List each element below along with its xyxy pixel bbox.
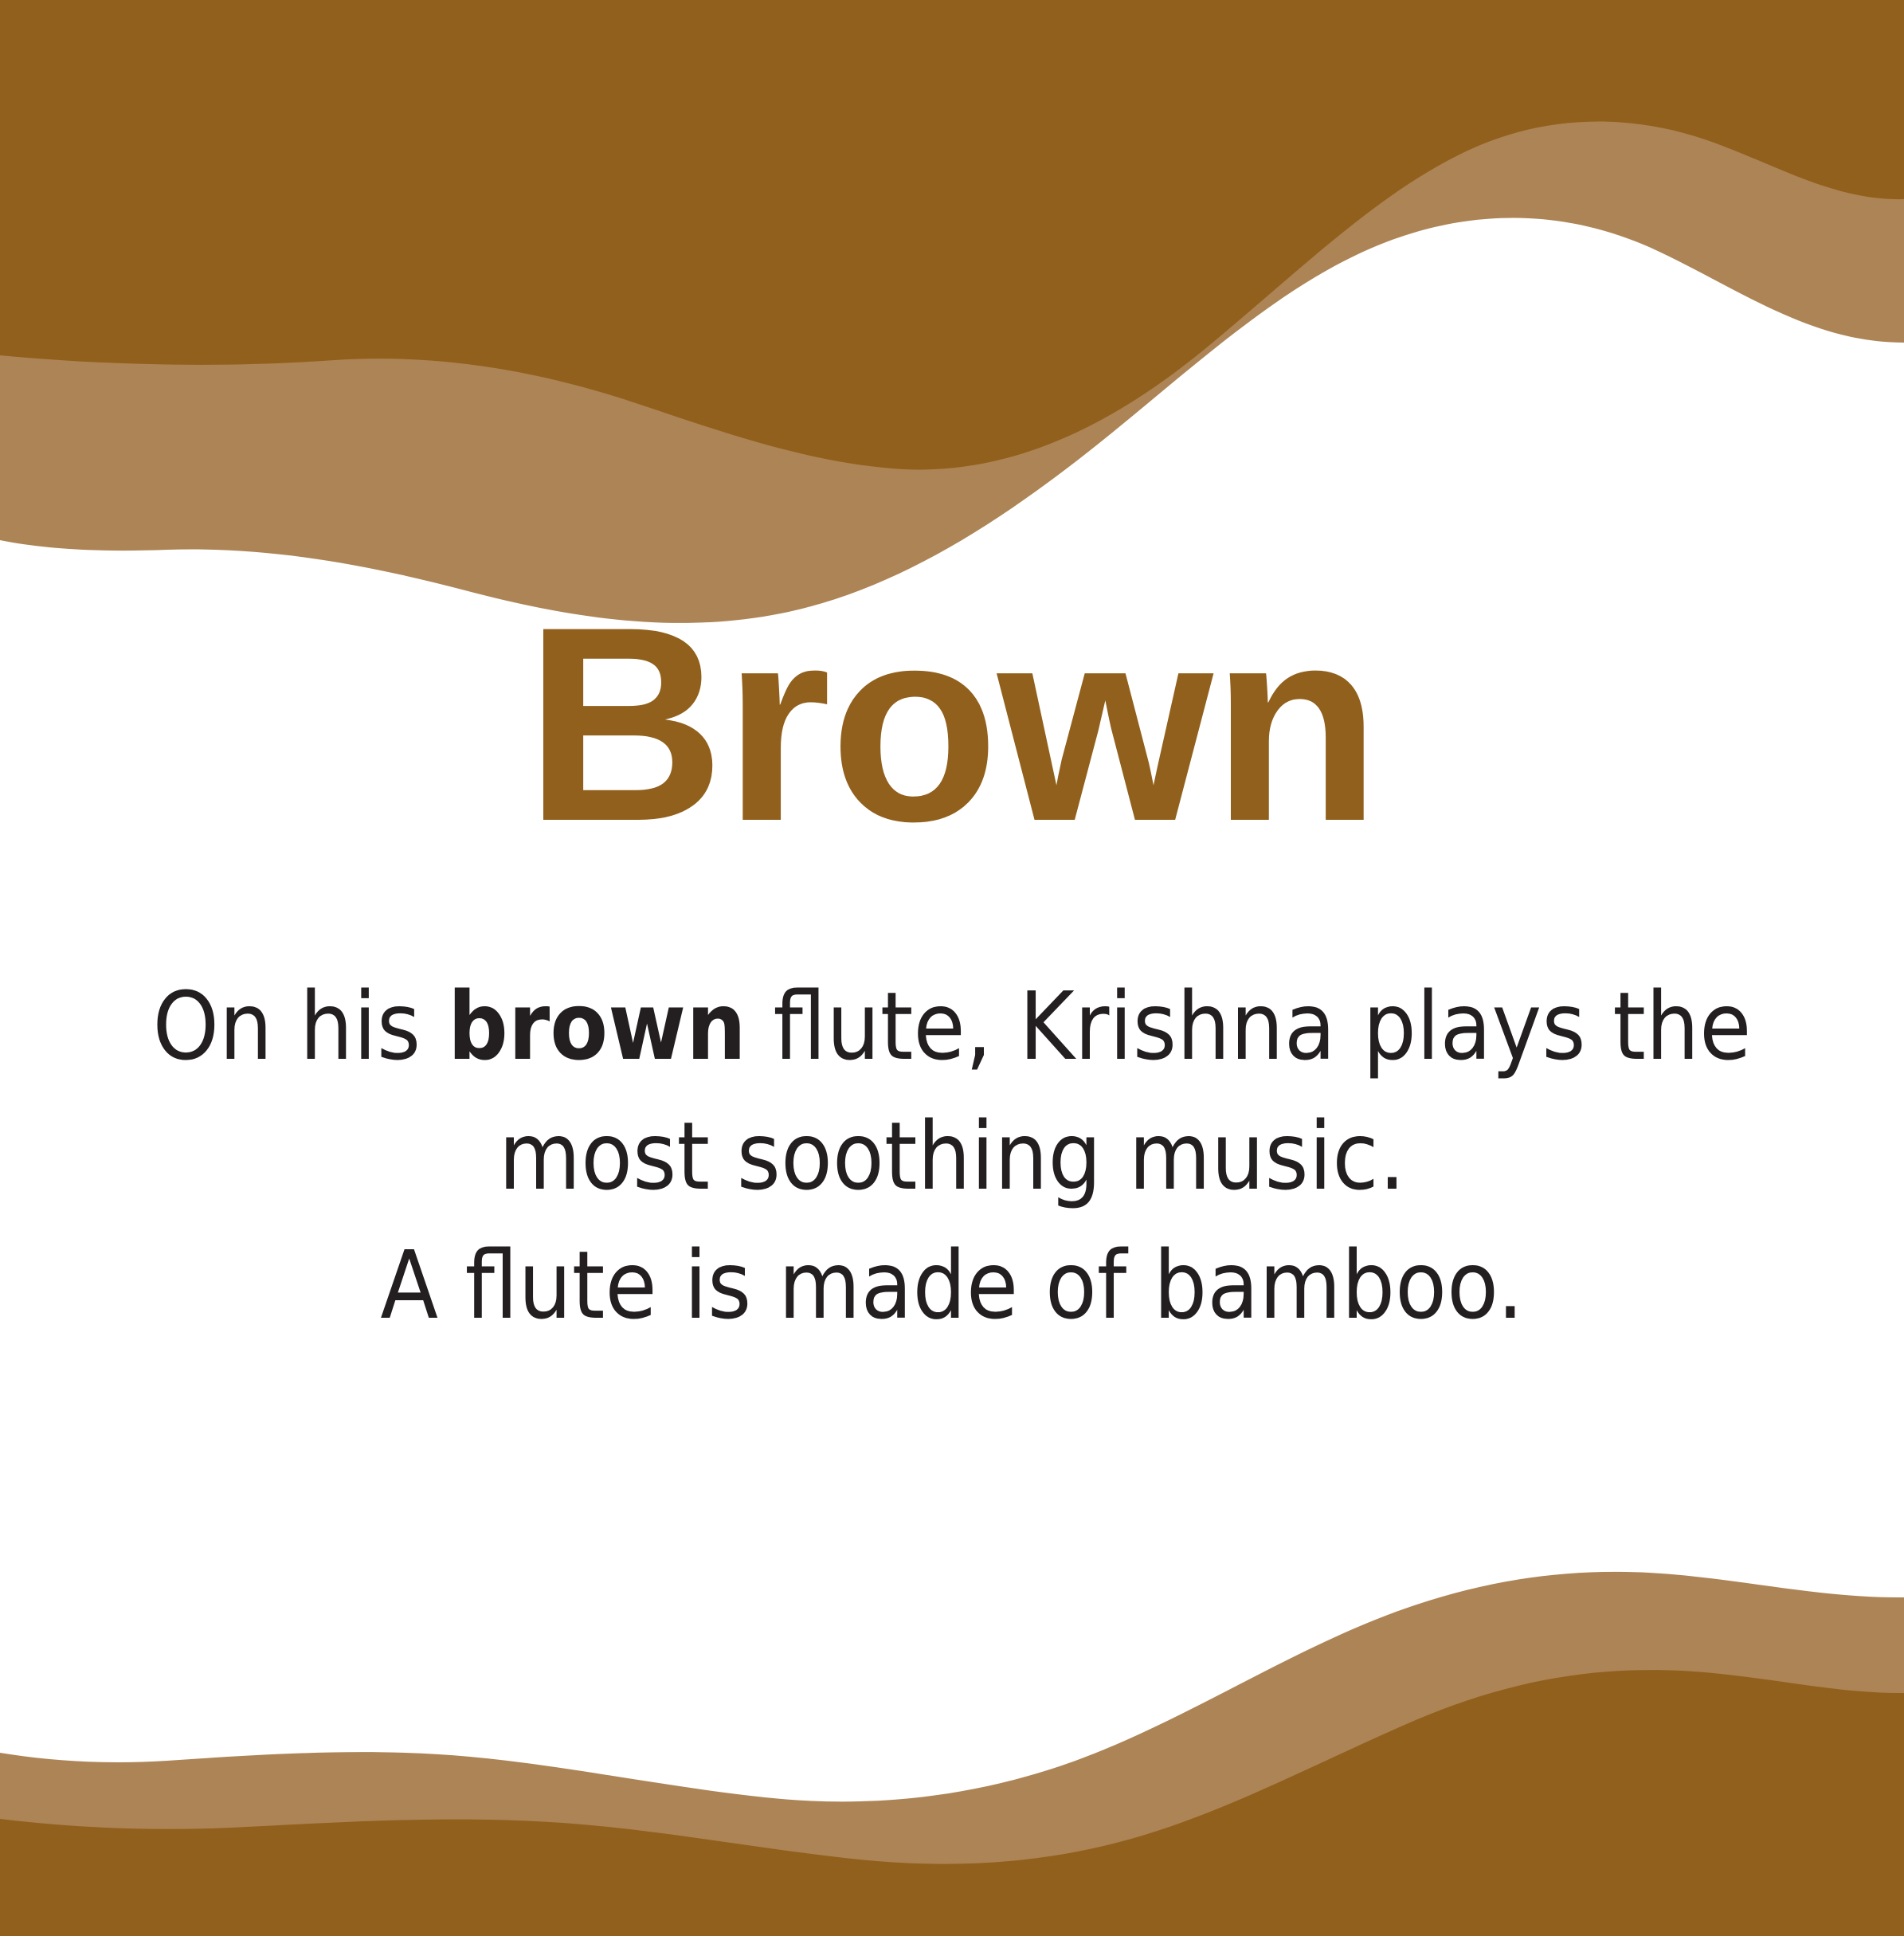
body-line-1-emphasis: brown: [448, 971, 746, 1081]
body-line-2: most soothing music.: [131, 1091, 1773, 1221]
body-line-3: A flute is made of bamboo.: [131, 1221, 1773, 1350]
card-content: Brown On his brown flute, Krishna plays …: [0, 0, 1904, 1936]
body-line-1-prefix: On his: [152, 971, 447, 1081]
body-text-block: On his brown flute, Krishna plays the mo…: [131, 962, 1773, 1350]
body-line-1: On his brown flute, Krishna plays the: [131, 962, 1773, 1091]
brown-color-card: Brown On his brown flute, Krishna plays …: [0, 0, 1904, 1936]
body-line-1-suffix: flute, Krishna plays the: [746, 971, 1752, 1081]
page-title: Brown: [525, 586, 1380, 868]
